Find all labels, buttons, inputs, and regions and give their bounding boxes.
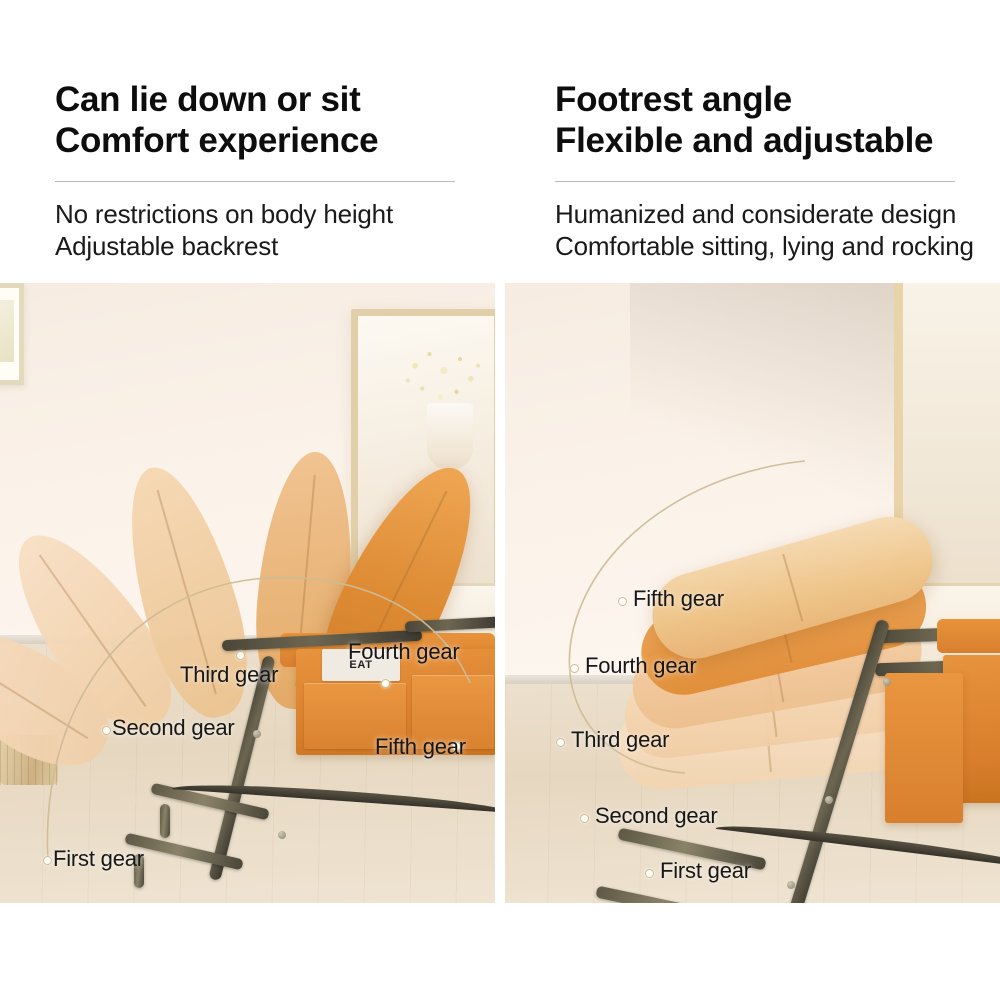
gear-marker-4-left[interactable] (381, 679, 390, 688)
gear-marker-2-left[interactable] (102, 726, 111, 735)
gear-label-3-left: Third gear (180, 662, 278, 688)
gear-label-2-left: Second gear (112, 715, 235, 741)
gear-marker-5-right[interactable] (618, 597, 627, 606)
gear-marker-1-left[interactable] (43, 856, 52, 865)
header-column-left: Can lie down or sit Comfort experience N… (0, 0, 500, 283)
leg-pivot-mid-right (825, 796, 833, 804)
right-heading-line1: Footrest angle (555, 80, 965, 121)
foot-stub-upper-left (160, 804, 170, 838)
right-subheading-line1: Humanized and considerate design (555, 199, 965, 231)
left-heading-line1: Can lie down or sit (55, 80, 455, 121)
right-subheading: Humanized and considerate design Comfort… (555, 199, 965, 262)
right-heading-divider (555, 181, 955, 182)
gear-label-2-right: Second gear (595, 803, 718, 829)
gear-label-1-right: First gear (660, 858, 751, 884)
leg-pivot-lower-right (787, 881, 795, 889)
panel-divider (495, 283, 505, 903)
left-product-photo: EAT First gear Second gear Third gear Fo… (0, 283, 495, 903)
leg-pivot-upper-right (883, 678, 891, 686)
gear-marker-4-right[interactable] (570, 664, 579, 673)
gear-marker-2-right[interactable] (580, 814, 589, 823)
gear-marker-3-right[interactable] (556, 738, 565, 747)
left-heading: Can lie down or sit Comfort experience (55, 80, 455, 162)
seat-cushion-right (937, 619, 1000, 653)
left-subheading-line2: Adjustable backrest (55, 231, 455, 263)
left-heading-line2: Comfort experience (55, 121, 455, 162)
gear-label-3-right: Third gear (571, 727, 669, 753)
gear-label-5-left: Fifth gear (375, 734, 466, 760)
left-subheading-line1: No restrictions on body height (55, 199, 455, 231)
back-cushion-right (885, 673, 963, 823)
leg-pivot-lower-left (278, 831, 286, 839)
gear-marker-1-right[interactable] (645, 869, 654, 878)
right-subheading-line2: Comfortable sitting, lying and rocking (555, 231, 965, 263)
gear-label-4-right: Fourth gear (585, 653, 697, 679)
gear-label-1-left: First gear (53, 846, 144, 872)
header-band: Can lie down or sit Comfort experience N… (0, 0, 1000, 283)
product-feature-page: Can lie down or sit Comfort experience N… (0, 0, 1000, 1000)
gear-label-4-left: Fourth gear (348, 639, 460, 665)
left-subheading: No restrictions on body height Adjustabl… (55, 199, 455, 262)
right-heading: Footrest angle Flexible and adjustable (555, 80, 965, 162)
header-column-right: Footrest angle Flexible and adjustable H… (500, 0, 1000, 283)
right-heading-line2: Flexible and adjustable (555, 121, 965, 162)
leg-pivot-upper-left (253, 730, 261, 738)
left-heading-divider (55, 181, 455, 182)
photo-panels: EAT First gear Second gear Third gear Fo… (0, 283, 1000, 903)
right-product-photo: Fifth gear Fourth gear Third gear Second… (505, 283, 1000, 903)
gear-label-5-right: Fifth gear (633, 586, 724, 612)
gear-marker-3-left[interactable] (236, 651, 245, 660)
